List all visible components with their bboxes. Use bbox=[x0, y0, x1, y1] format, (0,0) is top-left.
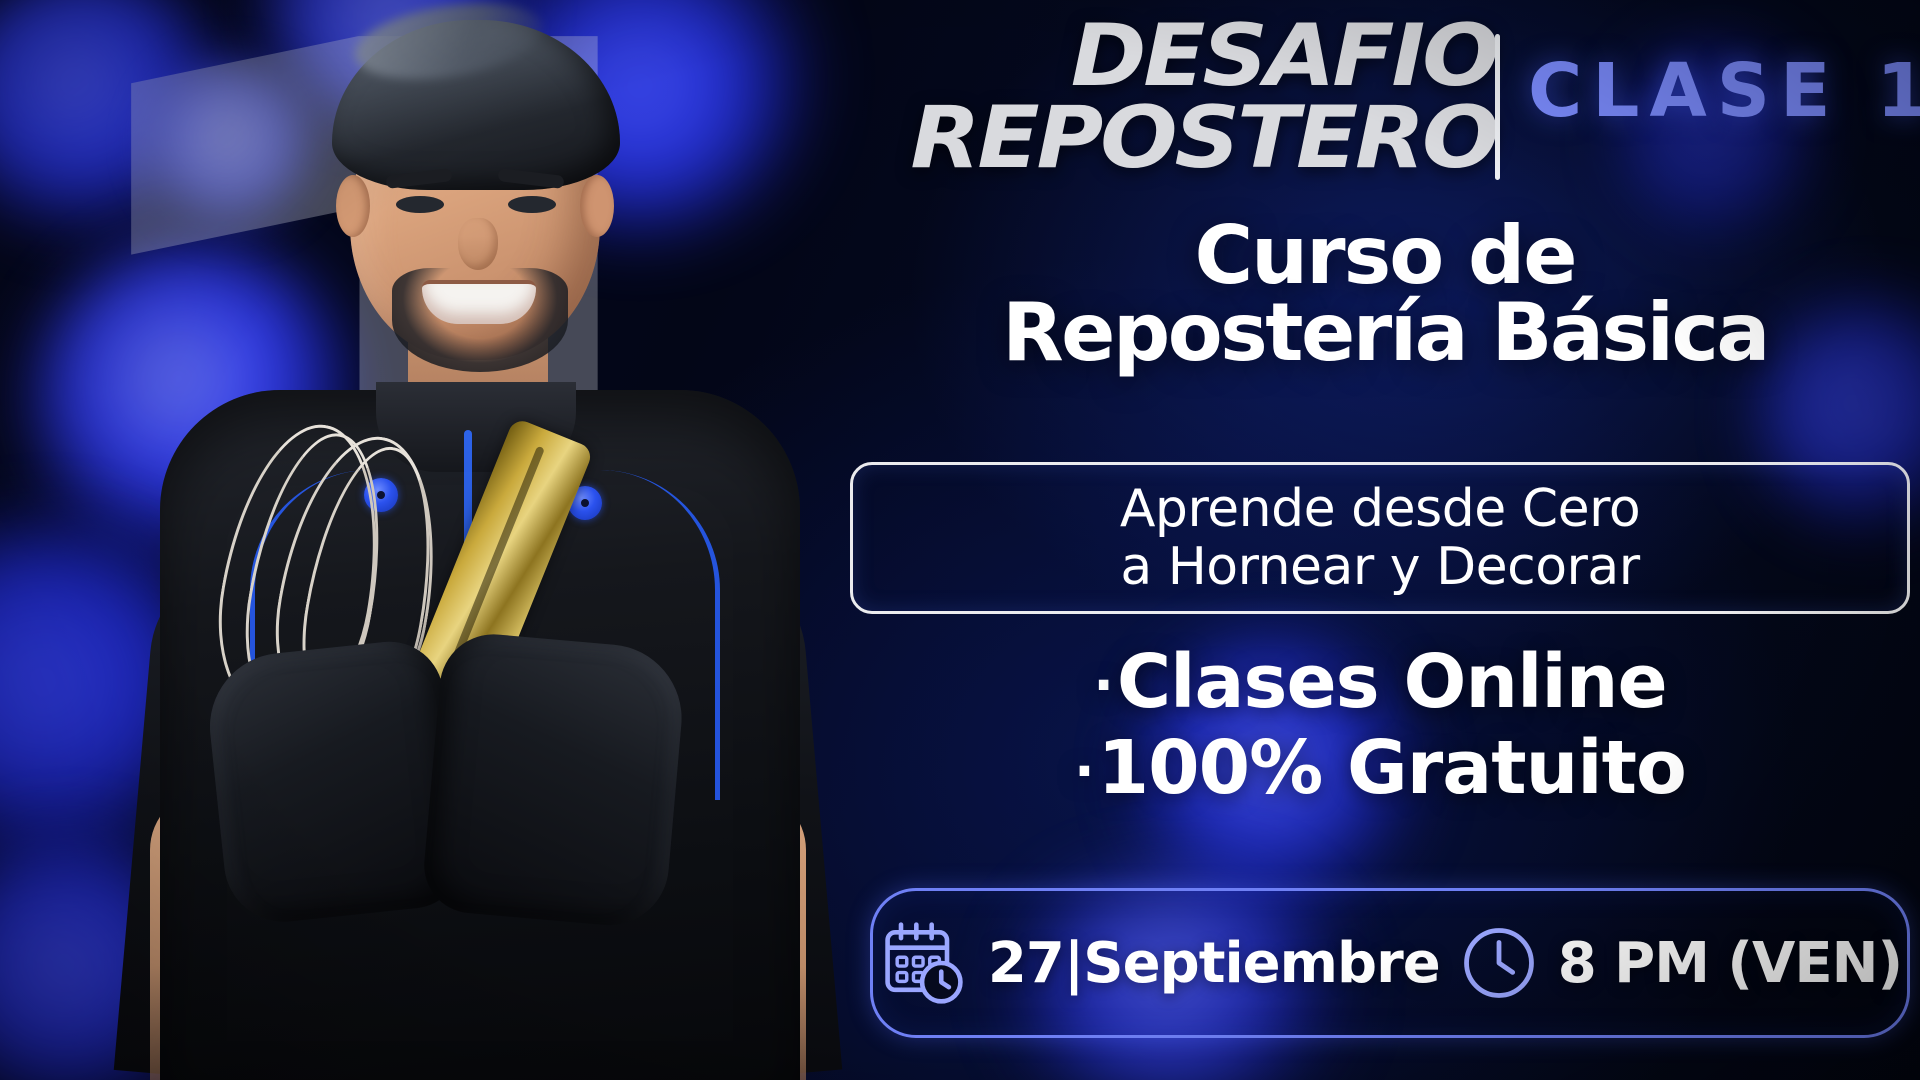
subtitle-line-2: a Hornear y Decorar bbox=[1120, 538, 1640, 596]
page-title: Curso de Repostería Básica bbox=[850, 218, 1920, 372]
bullet-marker: · bbox=[1074, 740, 1094, 803]
promo-banner: 1 bbox=[0, 0, 1920, 1080]
chef-photo bbox=[40, 0, 920, 1080]
chef-nose bbox=[458, 218, 498, 270]
chef-ear bbox=[580, 175, 614, 237]
chef-gloved-hand bbox=[203, 636, 466, 927]
chef-ear bbox=[336, 175, 370, 237]
bullet-label: 100% Gratuito bbox=[1098, 725, 1686, 811]
clock-icon bbox=[1458, 922, 1540, 1004]
chef-eye bbox=[396, 196, 444, 213]
subtitle-text: Aprende desde Cero a Hornear y Decorar bbox=[1120, 480, 1640, 596]
subtitle-line-1: Aprende desde Cero bbox=[1120, 480, 1640, 538]
schedule-date: 27|Septiembre bbox=[988, 931, 1440, 996]
kicker-divider bbox=[1495, 34, 1500, 180]
kicker-line-1: DESAFIO bbox=[911, 16, 1497, 98]
list-item: ·Clases Online bbox=[850, 640, 1910, 726]
chef-hair bbox=[332, 20, 620, 190]
kicker-block: DESAFIO REPOSTERO CLASE 1 bbox=[850, 16, 1920, 206]
chef-eye bbox=[508, 196, 556, 213]
banner-content: DESAFIO REPOSTERO CLASE 1 Curso de Repos… bbox=[850, 0, 1920, 1080]
class-badge: CLASE 1 bbox=[1528, 54, 1920, 128]
bullet-label: Clases Online bbox=[1117, 639, 1667, 725]
feature-list: ·Clases Online ·100% Gratuito bbox=[850, 640, 1910, 812]
chef-smile bbox=[422, 280, 536, 324]
headline-line-2: Repostería Básica bbox=[850, 295, 1920, 372]
chef-gloved-hand bbox=[420, 630, 687, 930]
subtitle-box: Aprende desde Cero a Hornear y Decorar bbox=[850, 462, 1910, 614]
kicker-title: DESAFIO REPOSTERO bbox=[911, 16, 1497, 179]
schedule-time: 8 PM (VEN) bbox=[1558, 931, 1902, 996]
schedule-pill: 27|Septiembre 8 PM (VEN) bbox=[870, 888, 1910, 1038]
list-item: ·100% Gratuito bbox=[850, 726, 1910, 812]
calendar-clock-icon bbox=[878, 917, 970, 1009]
kicker-line-2: REPOSTERO bbox=[911, 98, 1497, 180]
bullet-marker: · bbox=[1093, 654, 1113, 717]
